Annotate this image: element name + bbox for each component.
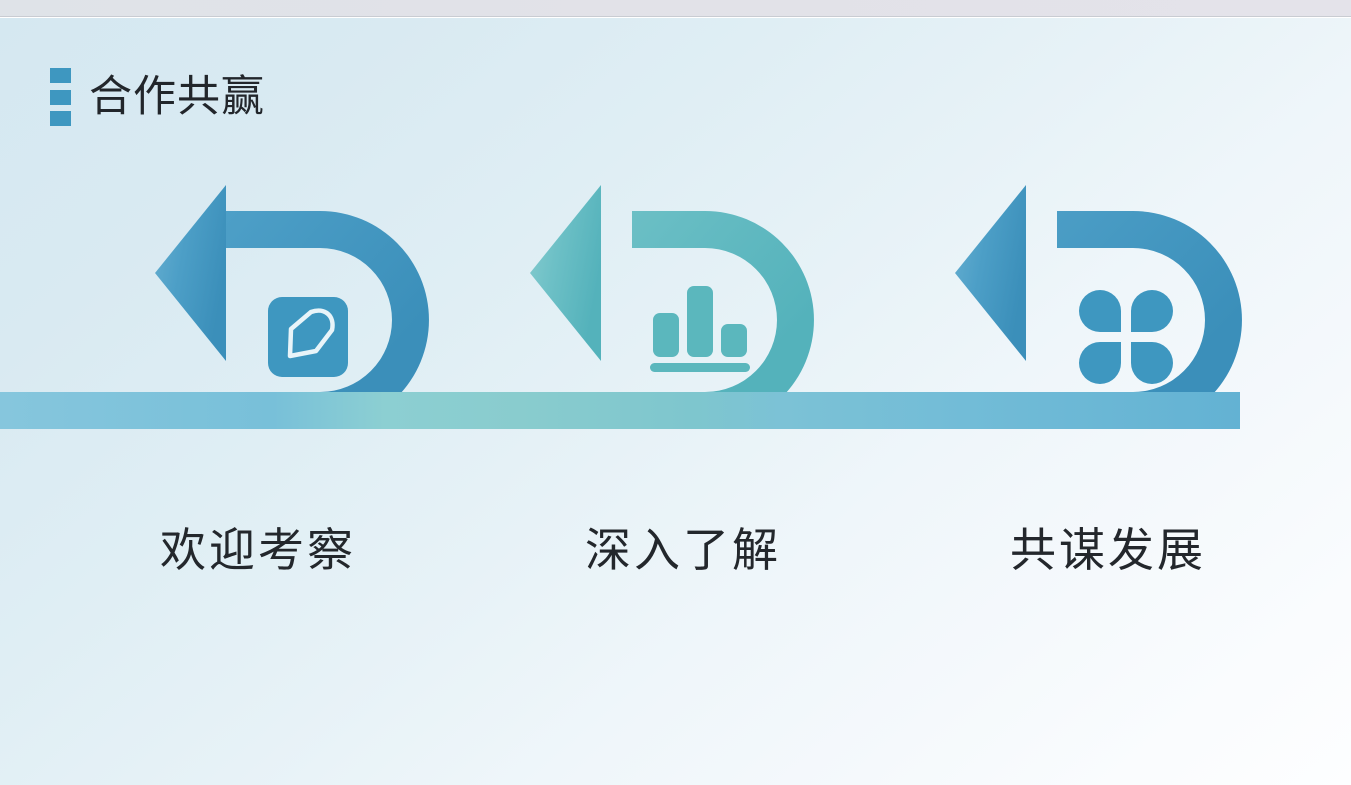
- step-3-arrowhead-icon: [955, 185, 1026, 361]
- slide-root: 合作共赢: [0, 0, 1351, 785]
- clover-petal-bottom-right: [1131, 342, 1173, 384]
- step-1-icon-group: [268, 297, 348, 377]
- step-label-3: 共谋发展: [928, 523, 1288, 578]
- clover-petal-bottom-left: [1079, 342, 1121, 384]
- bar-chart-bar-1: [653, 313, 679, 357]
- step-label-2: 深入了解: [503, 523, 863, 578]
- window-top-strip: [0, 0, 1351, 17]
- clover-petal-top-right: [1131, 290, 1173, 332]
- leaf-icon-tile: [268, 297, 348, 377]
- process-diagram: [0, 18, 1351, 785]
- bar-chart-bar-2: [687, 286, 713, 357]
- step-2-icon-group: [650, 286, 750, 372]
- bar-chart-bar-3: [721, 324, 747, 357]
- connector-band: [0, 392, 1240, 429]
- four-petal-clover-icon: [1079, 290, 1173, 384]
- bar-chart-baseline: [650, 363, 750, 372]
- slide-canvas: 合作共赢: [0, 18, 1351, 785]
- step-label-1: 欢迎考察: [78, 523, 438, 578]
- step-1-arrowhead-icon: [155, 185, 226, 361]
- bar-chart-icon: [650, 286, 750, 372]
- step-2-arrowhead-icon: [530, 185, 601, 361]
- clover-petal-top-left: [1079, 290, 1121, 332]
